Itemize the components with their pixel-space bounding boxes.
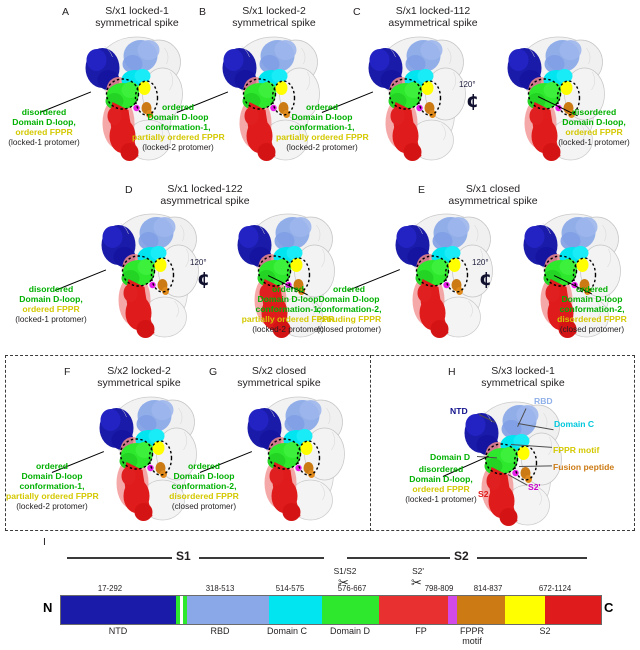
s2-rule-left <box>347 557 450 559</box>
label-domain-d: Domain D <box>430 452 470 462</box>
spike-structure-c-view1 <box>355 28 470 168</box>
panel-title-e: S/x1 closed asymmetrical spike <box>428 183 558 207</box>
caption-h-l3: ordered FPPR <box>396 485 486 495</box>
caption-f-l5: (locked-2 protomer) <box>6 502 98 512</box>
caption-e2-l4: disordered FPPR <box>546 315 638 325</box>
rotation-degrees-c: 120° <box>459 80 476 89</box>
range-fp: 798-809 <box>412 584 466 593</box>
caption-d-view1: disordered Domain D-loop, ordered FPPR (… <box>6 285 96 325</box>
rotation-axis-icon-c: ¢ <box>466 92 479 111</box>
domain-segment-s2 <box>545 596 601 624</box>
caption-c2-l3: ordered FPPR <box>552 128 636 138</box>
caption-c-view1: ordered Domain D-loop conformation-1, pa… <box>276 103 368 153</box>
caption-c1-l5: (locked-2 protomer) <box>276 143 368 153</box>
label-fusion-peptide: Fusion peptide <box>553 462 614 472</box>
caption-b-l4: partially ordered FPPR <box>132 133 224 143</box>
panel-letter-h: H <box>448 366 456 378</box>
domain-label-s2: S2 <box>510 626 580 636</box>
label-domain-c: Domain C <box>554 419 594 429</box>
caption-e2-l5: (closed protomer) <box>546 325 638 335</box>
rotation-degrees-d: 120° <box>190 258 207 267</box>
label-s2-prime: S2' <box>528 482 541 492</box>
caption-a: disordered Domain D-loop, ordered FPPR (… <box>2 108 86 148</box>
domain-diagram: I S1 S2 S1/S2 ✂ S2' ✂ 17-292 318-513 514… <box>0 533 640 650</box>
panel-title-g-line1: S/x2 closed <box>219 365 339 377</box>
panel-letter-e: E <box>418 184 425 196</box>
spike-structure-g <box>234 388 349 528</box>
panel-title-h-line1: S/x3 locked-1 <box>458 365 588 377</box>
caption-e1-l4: extruding FPPR <box>303 315 395 325</box>
caption-e1-l5: (closed protomer) <box>303 325 395 335</box>
panel-letter-f: F <box>64 366 71 378</box>
s1-rule-right <box>199 557 324 559</box>
domain-label-fp: FP <box>401 626 441 636</box>
range-fppr: 814-837 <box>461 584 515 593</box>
range-s2: 672-1124 <box>515 584 595 593</box>
panel-letter-b: B <box>199 6 206 18</box>
panel-title-b: S/x1 locked-2 symmetrical spike <box>209 5 339 29</box>
domain-label-domain-c: Domain C <box>255 626 319 636</box>
panel-letter-g: G <box>209 366 217 378</box>
range-rbd: 318-513 <box>185 584 255 593</box>
caption-g-l4: disordered FPPR <box>158 492 250 502</box>
figure-root: A S/x1 locked-1 symmetrical spike disord… <box>0 0 640 650</box>
panel-letter-c: C <box>353 6 361 18</box>
panel-letter-d: D <box>125 184 133 196</box>
domain-segment-domain-d <box>322 596 379 624</box>
caption-h-l4: (locked-1 protomer) <box>396 495 486 505</box>
caption-c-view2: disordered Domain D-loop, ordered FPPR (… <box>552 108 636 148</box>
domain-label-fppr: FPPRmotif <box>446 626 498 646</box>
s1-rule-left <box>67 557 172 559</box>
domain-segment-fp <box>457 596 505 624</box>
panel-title-a: S/x1 locked-1 symmetrical spike <box>72 5 202 29</box>
rotation-degrees-e: 120° <box>472 258 489 267</box>
caption-h: disordered Domain D-loop, ordered FPPR (… <box>396 465 486 505</box>
rotation-axis-icon-d: ¢ <box>197 270 210 289</box>
domain-label-domain-d: Domain D <box>315 626 385 636</box>
domain-segment-domain-c <box>269 596 322 624</box>
panel-title-c: S/x1 locked-112 asymmetrical spike <box>363 5 503 29</box>
subunit-label-s2: S2 <box>454 549 469 563</box>
caption-e-view1: ordered Domain D-loop conformation-2, ex… <box>303 285 395 335</box>
subunit-label-s1: S1 <box>176 549 191 563</box>
domain-label-rbd: RBD <box>190 626 250 636</box>
panel-title-f-line1: S/x2 locked-2 <box>74 365 204 377</box>
panel-title-h: S/x3 locked-1 symmetrical spike <box>458 365 588 389</box>
panel-title-g: S/x2 closed symmetrical spike <box>219 365 339 389</box>
range-ntd: 17-292 <box>75 584 145 593</box>
panel-title-a-line1: S/x1 locked-1 <box>72 5 202 17</box>
panel-title-b-line1: S/x1 locked-2 <box>209 5 339 17</box>
domain-segment-s2-nterm <box>379 596 448 624</box>
panel-title-d: S/x1 locked-122 asymmetrical spike <box>135 183 275 207</box>
label-ntd: NTD <box>450 406 468 416</box>
domain-segment-ntd <box>61 596 176 624</box>
domain-segment-rbd <box>187 596 269 624</box>
caption-a-l4: (locked-1 protomer) <box>2 138 86 148</box>
caption-g-l5: (closed protomer) <box>158 502 250 512</box>
caption-c1-l4: partially ordered FPPR <box>276 133 368 143</box>
spike-structure-h <box>451 393 566 533</box>
label-fppr-motif: FPPR motif <box>553 445 599 455</box>
panel-title-d-line1: S/x1 locked-122 <box>135 183 275 195</box>
caption-g: ordered Domain D-loop conformation-2, di… <box>158 462 250 512</box>
panel-letter-i: I <box>43 536 46 548</box>
rotation-axis-icon-e: ¢ <box>479 270 492 289</box>
c-terminus-label: C <box>604 600 613 615</box>
panel-letter-a: A <box>62 6 69 18</box>
caption-e-view2: ordered Domain D-loop conformation-2, di… <box>546 285 638 335</box>
caption-d1-l4: (locked-1 protomer) <box>6 315 96 325</box>
panel-title-f: S/x2 locked-2 symmetrical spike <box>74 365 204 389</box>
panel-title-c-line1: S/x1 locked-112 <box>363 5 503 17</box>
caption-f-l4: partially ordered FPPR <box>6 492 98 502</box>
range-domain-c: 514-575 <box>258 584 322 593</box>
domain-segment-fppr <box>505 596 545 624</box>
domain-label-ntd: NTD <box>80 626 156 636</box>
domain-bar <box>60 595 602 625</box>
caption-b: ordered Domain D-loop conformation-1, pa… <box>132 103 224 153</box>
caption-d1-l3: ordered FPPR <box>6 305 96 315</box>
label-rbd: RBD <box>534 396 553 406</box>
domain-segment-s2-prime <box>448 596 457 624</box>
panel-title-e-line1: S/x1 closed <box>428 183 558 195</box>
caption-a-l3: ordered FPPR <box>2 128 86 138</box>
range-domain-d: 576-667 <box>320 584 384 593</box>
panel-group-divider <box>370 355 371 531</box>
spike-structure-d-view1 <box>88 205 203 345</box>
caption-f: ordered Domain D-loop conformation-1, pa… <box>6 462 98 512</box>
s2-rule-right <box>477 557 587 559</box>
caption-b-l5: (locked-2 protomer) <box>132 143 224 153</box>
caption-c2-l4: (locked-1 protomer) <box>552 138 636 148</box>
panel-title-h-line2: symmetrical spike <box>458 377 588 389</box>
n-terminus-label: N <box>43 600 52 615</box>
